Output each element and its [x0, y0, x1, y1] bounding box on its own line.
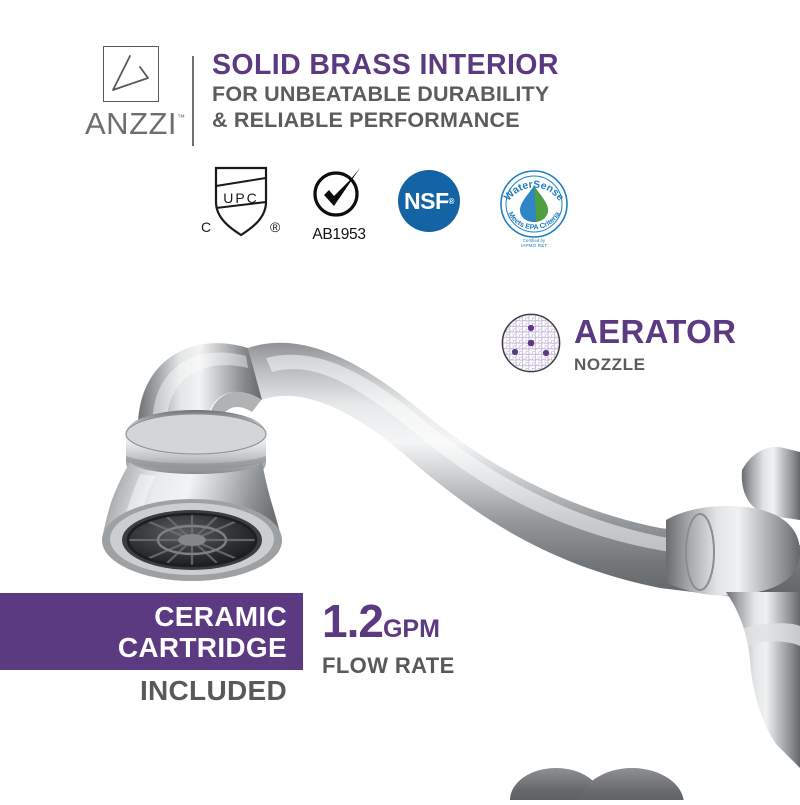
nsf-badge: NSF® — [398, 170, 462, 234]
flow-rate-unit: GPM — [383, 615, 440, 643]
headline-primary: SOLID BRASS INTERIOR — [212, 50, 559, 81]
certification-badges: UPC C ® AB1953 NSF® — [0, 160, 800, 252]
svg-text:ANZZI: ANZZI — [85, 108, 177, 140]
ceramic-cartridge-banner: CERAMIC CARTRIDGE — [0, 593, 303, 670]
watersense-badge: WaterSense Meets EPA Criteria Certified … — [492, 164, 576, 248]
flow-rate-label: FLOW RATE — [322, 653, 455, 679]
anzzi-triangle-mark-icon — [103, 46, 159, 102]
aerator-callout: AERATOR NOZZLE — [500, 312, 736, 375]
headline-block: SOLID BRASS INTERIOR FOR UNBEATABLE DURA… — [212, 50, 559, 133]
brand-wordmark: ANZZI ™ — [85, 108, 185, 138]
svg-text:C: C — [201, 219, 211, 235]
cartridge-line-1: CERAMIC — [0, 601, 287, 632]
flow-rate-value: 1.2 — [322, 595, 383, 647]
nsf-text: NSF — [404, 188, 449, 215]
header-divider — [192, 56, 194, 146]
aerator-text-block: AERATOR NOZZLE — [574, 312, 736, 375]
svg-text:™: ™ — [177, 113, 185, 122]
ab1953-label: AB1953 — [300, 226, 378, 244]
cupc-badge: UPC C ® — [196, 162, 286, 242]
cartridge-line-2: CARTRIDGE — [0, 632, 287, 663]
nsf-label: NSF® — [398, 170, 460, 232]
flow-rate-block: 1.2GPM FLOW RATE — [322, 598, 455, 679]
headline-secondary-line-1: FOR UNBEATABLE DURABILITY — [212, 81, 559, 107]
cartridge-included-label: INCLUDED — [0, 675, 303, 707]
headline-secondary-line-2: & RELIABLE PERFORMANCE — [212, 107, 559, 133]
nsf-registered-mark: ® — [449, 197, 454, 206]
aerator-title: AERATOR — [574, 315, 736, 348]
brand-logo: ANZZI ™ — [85, 46, 185, 138]
aerator-subtitle: NOZZLE — [574, 355, 736, 375]
header-section: ANZZI ™ SOLID BRASS INTERIOR FOR UNBEATA… — [0, 0, 800, 160]
svg-text:®: ® — [270, 219, 281, 235]
flow-rate-value-row: 1.2GPM — [322, 598, 455, 644]
ab1953-badge: AB1953 — [300, 166, 378, 244]
svg-text:UPC: UPC — [223, 190, 259, 206]
svg-text:Certified by: Certified by — [523, 238, 546, 243]
aerator-mesh-icon — [500, 312, 562, 374]
svg-text:IAPMO R&T: IAPMO R&T — [521, 243, 547, 248]
